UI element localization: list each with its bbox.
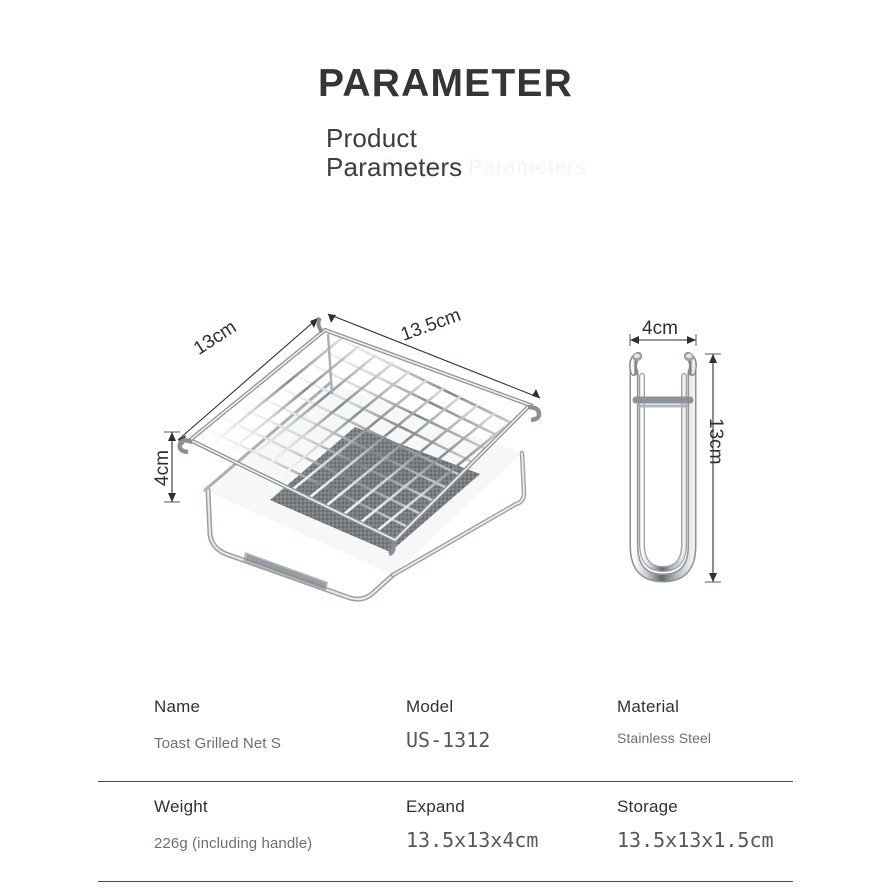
spec-cell-storage: Storage 13.5x13x1.5cm [617,782,793,881]
handle-svg [600,310,800,630]
spec-value-material: Stainless Steel [617,731,712,746]
page-subtitle-wrap: Product Parameters [326,124,541,182]
handle-body [632,353,694,578]
spec-value-storage: 13.5x13x1.5cm [617,828,774,852]
page-header: PARAMETER Product Parameters Product Par… [0,0,891,215]
handle-illustration: 4cm 13cm [600,310,800,630]
spec-label-name: Name [154,697,200,717]
basket-body [205,383,524,599]
table-row: Name Toast Grilled Net S Model US-1312 M… [98,682,793,782]
handle-dimension-length-label: 13cm [704,418,726,464]
spec-label-expand: Expand [406,797,465,817]
spec-value-model: US-1312 [406,728,490,752]
dimension-line-13cm-handle [705,354,721,582]
spec-cell-weight: Weight 226g (including handle) [154,782,404,881]
spec-value-name: Toast Grilled Net S [154,735,281,752]
page-title: PARAMETER [0,64,891,103]
spec-cell-expand: Expand 13.5x13x4cm [406,782,611,881]
spec-cell-name: Name Toast Grilled Net S [154,682,404,781]
spec-value-weight: 226g (including handle) [154,835,312,852]
spec-value-expand: 13.5x13x4cm [406,828,538,852]
spec-label-material: Material [617,697,679,717]
spec-cell-material: Material Stainless Steel [617,682,793,781]
spec-label-model: Model [406,697,453,717]
spec-label-storage: Storage [617,797,678,817]
table-row: Weight 226g (including handle) Expand 13… [98,782,793,882]
spec-label-weight: Weight [154,797,208,817]
product-illustrations: 13cm 13.5cm 4cm [0,280,891,650]
spec-table: Name Toast Grilled Net S Model US-1312 M… [98,682,793,882]
brand-plate [243,552,328,592]
product-parameter-page: PARAMETER Product Parameters Product Par… [0,0,891,891]
handle-dimension-width-label: 4cm [642,318,678,340]
grill-basket-illustration: 13cm 13.5cm 4cm [150,290,570,630]
spec-cell-model: Model US-1312 [406,682,611,781]
page-subtitle: Product Parameters [326,124,541,182]
grill-dimension-height-label: 4cm [152,450,174,486]
